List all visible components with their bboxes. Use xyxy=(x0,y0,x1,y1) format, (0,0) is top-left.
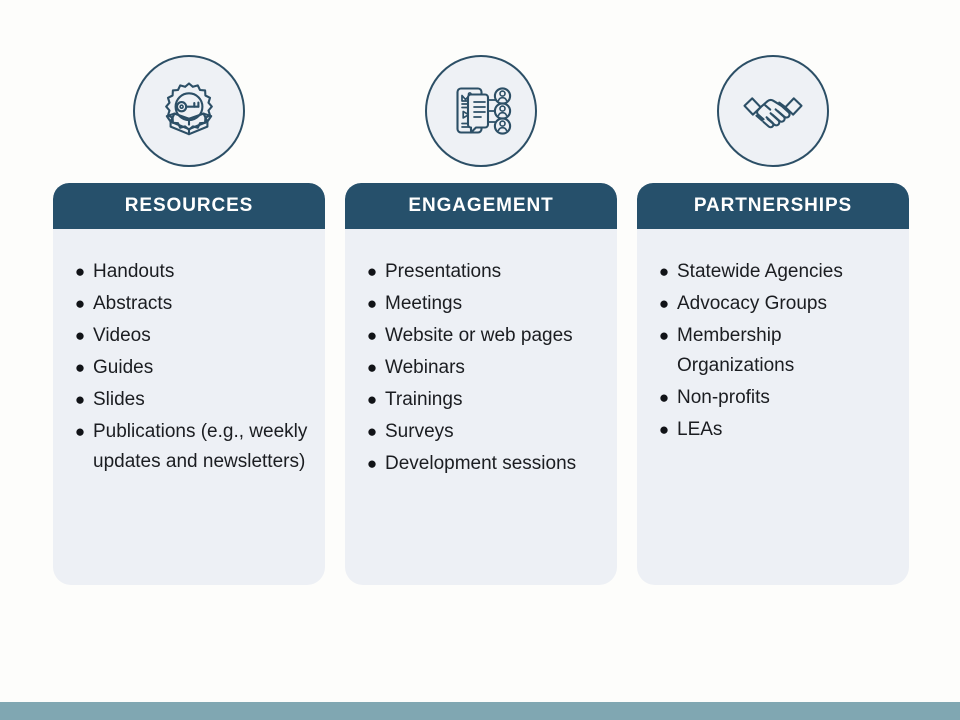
list-item: ● Presentations xyxy=(359,257,603,287)
list-item: ● Slides xyxy=(67,385,311,415)
list-item: ● Non-profits xyxy=(651,383,895,413)
gear-key-box-icon xyxy=(133,55,245,167)
card-partnerships: PARTNERSHIPS ● Statewide Agencies ● Advo… xyxy=(637,183,909,585)
bullet-list-partnerships: ● Statewide Agencies ● Advocacy Groups ●… xyxy=(651,257,895,445)
bullet-dot-icon: ● xyxy=(359,257,385,287)
bullet-dot-icon: ● xyxy=(67,257,93,287)
list-item: ● Webinars xyxy=(359,353,603,383)
column-partnerships: PARTNERSHIPS ● Statewide Agencies ● Advo… xyxy=(637,0,909,600)
card-title-resources: RESOURCES xyxy=(125,195,253,217)
list-item: ● Development sessions xyxy=(359,449,603,479)
bullet-dot-icon: ● xyxy=(359,385,385,415)
list-item: ● LEAs xyxy=(651,415,895,445)
handshake-icon xyxy=(717,55,829,167)
columns-container: RESOURCES ● Handouts ● Abstracts ● xyxy=(0,0,960,600)
bullet-dot-icon: ● xyxy=(67,321,93,351)
list-item: ● Meetings xyxy=(359,289,603,319)
list-item: ● Trainings xyxy=(359,385,603,415)
bullet-dot-icon: ● xyxy=(651,321,677,351)
list-item: ● Publications (e.g., weekly updates and… xyxy=(67,417,311,477)
bullet-dot-icon: ● xyxy=(359,449,385,479)
card-title-engagement: ENGAGEMENT xyxy=(408,195,553,217)
bullet-dot-icon: ● xyxy=(359,417,385,447)
list-item-label: Webinars xyxy=(385,353,603,383)
icon-wrap-resources xyxy=(133,55,245,167)
bullet-dot-icon: ● xyxy=(67,385,93,415)
infographic-slide: RESOURCES ● Handouts ● Abstracts ● xyxy=(0,0,960,720)
documents-people-network-icon xyxy=(425,55,537,167)
list-item-label: Guides xyxy=(93,353,311,383)
icon-wrap-partnerships xyxy=(717,55,829,167)
list-item-label: Videos xyxy=(93,321,311,351)
footer-accent-bar xyxy=(0,702,960,720)
list-item-label: LEAs xyxy=(677,415,895,445)
card-title-partnerships: PARTNERSHIPS xyxy=(694,195,852,217)
bullet-dot-icon: ● xyxy=(67,417,93,447)
list-item-label: Advocacy Groups xyxy=(677,289,895,319)
card-header-engagement: ENGAGEMENT xyxy=(345,183,617,229)
card-engagement: ENGAGEMENT ● Presentations ● Meetings xyxy=(345,183,617,585)
list-item-label: Handouts xyxy=(93,257,311,287)
list-item-label: Website or web pages xyxy=(385,321,603,351)
list-item-label: Slides xyxy=(93,385,311,415)
card-header-partnerships: PARTNERSHIPS xyxy=(637,183,909,229)
list-item: ● Abstracts xyxy=(67,289,311,319)
bullet-dot-icon: ● xyxy=(359,353,385,383)
bullet-dot-icon: ● xyxy=(651,415,677,445)
icon-wrap-engagement xyxy=(425,55,537,167)
list-item: ● Guides xyxy=(67,353,311,383)
list-item-label: Trainings xyxy=(385,385,603,415)
list-item-label: Surveys xyxy=(385,417,603,447)
list-item-label: Meetings xyxy=(385,289,603,319)
list-item-label: Publications (e.g., weekly updates and n… xyxy=(93,417,311,477)
bullet-dot-icon: ● xyxy=(359,289,385,319)
card-resources: RESOURCES ● Handouts ● Abstracts ● xyxy=(53,183,325,585)
bullet-dot-icon: ● xyxy=(67,289,93,319)
list-item: ● Statewide Agencies xyxy=(651,257,895,287)
list-item: ● Handouts xyxy=(67,257,311,287)
bullet-dot-icon: ● xyxy=(67,353,93,383)
list-item: ● Advocacy Groups xyxy=(651,289,895,319)
card-body-resources: ● Handouts ● Abstracts ● Videos ● xyxy=(53,229,325,497)
bullet-dot-icon: ● xyxy=(651,257,677,287)
card-header-resources: RESOURCES xyxy=(53,183,325,229)
column-engagement: ENGAGEMENT ● Presentations ● Meetings xyxy=(345,0,617,600)
column-resources: RESOURCES ● Handouts ● Abstracts ● xyxy=(53,0,325,600)
bullet-dot-icon: ● xyxy=(359,321,385,351)
list-item-label: Abstracts xyxy=(93,289,311,319)
card-body-partnerships: ● Statewide Agencies ● Advocacy Groups ●… xyxy=(637,229,909,465)
list-item: ● Website or web pages xyxy=(359,321,603,351)
bullet-list-engagement: ● Presentations ● Meetings ● Website or … xyxy=(359,257,603,479)
list-item-label: Development sessions xyxy=(385,449,603,479)
list-item-label: Presentations xyxy=(385,257,603,287)
list-item: ● Videos xyxy=(67,321,311,351)
list-item-label: Membership Organizations xyxy=(677,321,895,381)
list-item: ● Membership Organizations xyxy=(651,321,895,381)
bullet-dot-icon: ● xyxy=(651,289,677,319)
card-body-engagement: ● Presentations ● Meetings ● Website or … xyxy=(345,229,617,499)
list-item-label: Statewide Agencies xyxy=(677,257,895,287)
bullet-list-resources: ● Handouts ● Abstracts ● Videos ● xyxy=(67,257,311,477)
list-item-label: Non-profits xyxy=(677,383,895,413)
list-item: ● Surveys xyxy=(359,417,603,447)
bullet-dot-icon: ● xyxy=(651,383,677,413)
